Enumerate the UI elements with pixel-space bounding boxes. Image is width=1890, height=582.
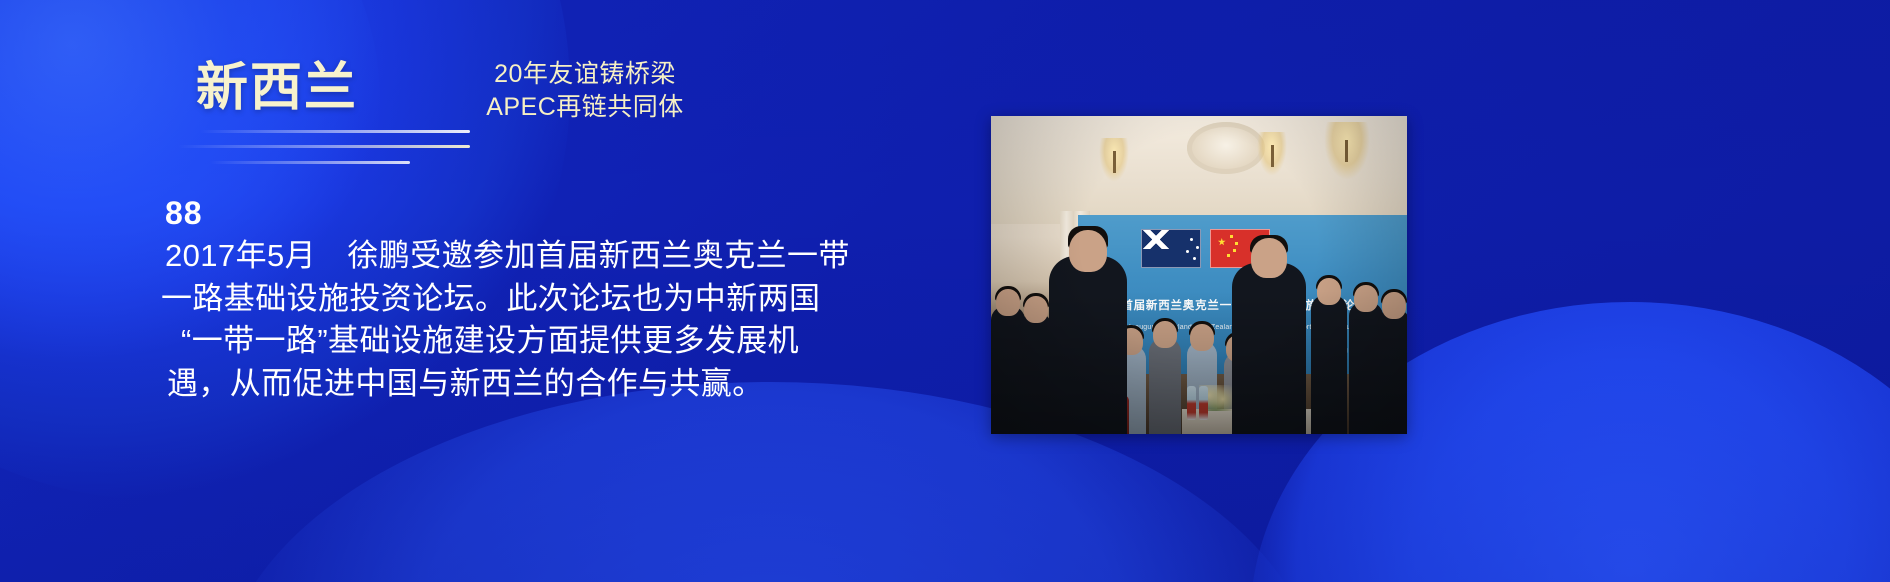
paragraph-line-1: 2017年5月 徐鹏受邀参加首届新西兰奥克兰一带 (165, 235, 865, 277)
body-text-block: 88 2017年5月 徐鹏受邀参加首届新西兰奥克兰一带 一路基础设施投资论坛。此… (165, 196, 865, 405)
slide-canvas: 新西兰 20年友谊铸桥梁 APEC再链共同体 88 2017年5月 徐鹏受邀参加… (0, 0, 1890, 582)
person-listening-figure (1232, 263, 1306, 434)
photo-crowd (991, 256, 1407, 434)
photo-scene: 首届新西兰奥克兰一带一路基础设施投资论坛 Inaugural Auckland … (991, 116, 1407, 434)
person-speaking-figure (1049, 256, 1127, 434)
person-figure (1311, 295, 1347, 434)
chandelier-icon (1324, 122, 1370, 180)
decorative-rule-2 (178, 145, 470, 148)
head (1354, 285, 1378, 312)
page-title: 新西兰 (196, 62, 358, 114)
body-paragraph: 2017年5月 徐鹏受邀参加首届新西兰奥克兰一带 一路基础设施投资论坛。此次论坛… (165, 235, 865, 405)
head (1069, 230, 1107, 272)
paragraph-line-2: 一路基础设施投资论坛。此次论坛也为中新两国 (165, 278, 865, 320)
head (1190, 324, 1214, 351)
subtitle-line-2: APEC再链共同体 (420, 91, 750, 124)
paragraph-line-3: “一带一路”基础设施建设方面提供更多发展机 (165, 320, 865, 362)
head (996, 289, 1020, 316)
person-figure (1020, 313, 1052, 434)
decorative-rule-3 (210, 161, 410, 164)
head (1382, 292, 1406, 319)
ceiling-medallion (1187, 122, 1265, 174)
subtitle-line-1: 20年友谊铸桥梁 (420, 58, 750, 91)
subtitle-block: 20年友谊铸桥梁 APEC再链共同体 (420, 58, 750, 124)
paragraph-line-4: 遇，从而促进中国与新西兰的合作与共赢。 (165, 363, 865, 405)
forum-photo: 首届新西兰奥克兰一带一路基础设施投资论坛 Inaugural Auckland … (991, 116, 1407, 434)
head (1153, 321, 1177, 348)
decorative-rule-1 (200, 130, 470, 133)
page-number: 88 (165, 196, 865, 231)
person-figure (1378, 309, 1407, 434)
slide-header: 新西兰 20年友谊铸桥梁 APEC再链共同体 (0, 0, 1890, 180)
person-figure (1149, 338, 1181, 434)
head (1317, 278, 1341, 305)
title-block: 新西兰 (196, 62, 358, 114)
title-decorative-rules (150, 130, 470, 176)
wall-sconce-icon (1099, 138, 1129, 182)
wall-sconce-icon (1257, 132, 1287, 176)
beverage-bottle (1187, 386, 1196, 420)
beverage-bottle (1199, 386, 1208, 420)
head (1024, 296, 1048, 323)
head (1251, 238, 1287, 278)
